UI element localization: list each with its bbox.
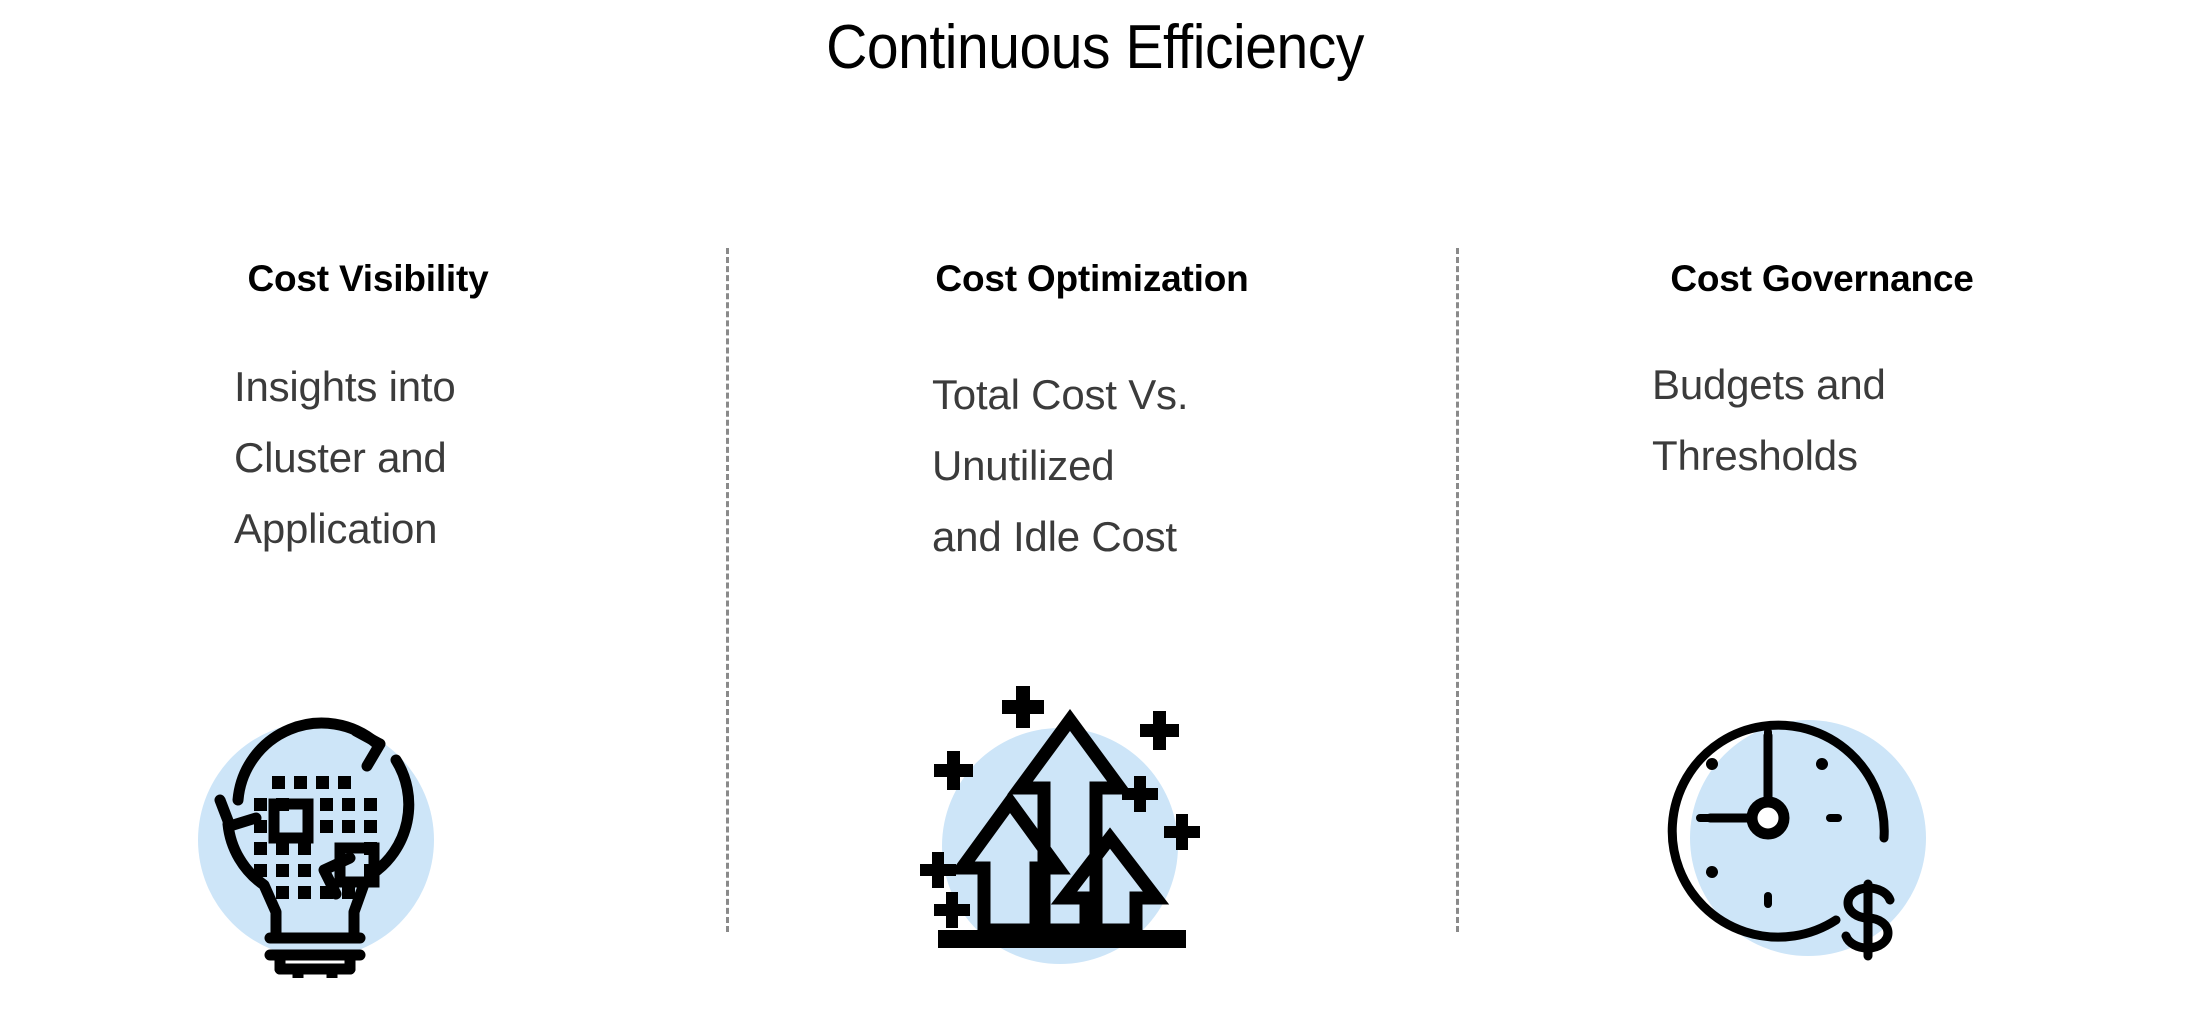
column-divider-1 [726, 248, 729, 932]
column-heading: Cost Visibility [18, 258, 718, 301]
body-line: Cluster and [234, 422, 718, 493]
column-cost-optimization: Cost Optimization Total Cost Vs. Unutili… [742, 258, 1442, 958]
body-line: Budgets and [1652, 349, 2172, 420]
body-line: Thresholds [1652, 420, 2172, 491]
column-body-text: Total Cost Vs. Unutilized and Idle Cost [742, 359, 1442, 572]
body-line: Insights into [234, 351, 718, 422]
column-heading: Cost Optimization [742, 258, 1442, 301]
column-cost-governance: Cost Governance Budgets and Thresholds [1472, 258, 2172, 958]
clock-dollar-icon [1640, 688, 1960, 968]
column-cost-visibility: Cost Visibility Insights into Cluster an… [18, 258, 718, 958]
growth-arrows-icon [912, 678, 1232, 958]
body-line: Unutilized [932, 430, 1442, 501]
column-divider-2 [1456, 248, 1459, 932]
body-line: and Idle Cost [932, 501, 1442, 572]
body-line: Total Cost Vs. [932, 359, 1442, 430]
slide-canvas: Continuous Efficiency Cost Visibility In… [0, 0, 2190, 1030]
body-line: Application [234, 493, 718, 564]
lightbulb-refresh-icon [164, 698, 484, 978]
column-body-text: Insights into Cluster and Application [18, 351, 718, 564]
column-body-text: Budgets and Thresholds [1472, 349, 2172, 491]
column-heading: Cost Governance [1472, 258, 2172, 301]
page-title: Continuous Efficiency [88, 14, 2103, 82]
